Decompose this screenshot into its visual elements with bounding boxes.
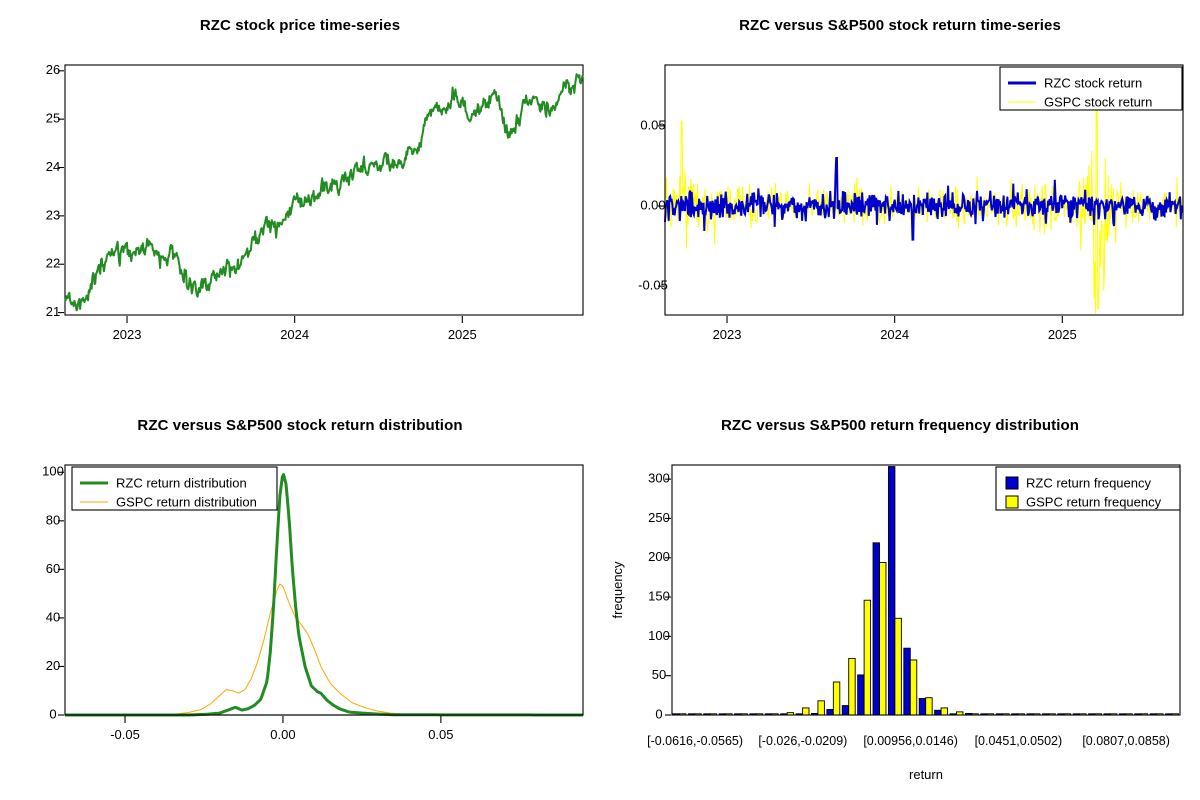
y-tick-label: 0 (655, 706, 662, 721)
figure-root: RZC stock price time-series 212223242526… (0, 0, 1200, 800)
bar-gspc (880, 562, 886, 715)
legend: RZC return frequencyGSPC return frequenc… (996, 467, 1180, 510)
bar-rzc (873, 543, 879, 715)
plot-rzc-price: 212223242526202320242025 (0, 0, 600, 400)
bar-gspc (910, 660, 916, 715)
bar-rzc (935, 710, 941, 715)
y-tick-label: 0.00 (640, 197, 665, 212)
y-tick-label: 80 (46, 512, 60, 527)
plot-rzc-gspc-return: -0.050.000.05202320242025RZC stock retur… (600, 0, 1200, 400)
panel-rzc-gspc-return: RZC versus S&P500 stock return time-seri… (600, 0, 1200, 400)
y-tick-label: 23 (46, 207, 60, 222)
x-tick-label: [-0.0616,-0.0565) (647, 734, 743, 748)
x-tick-label: 2023 (713, 327, 742, 342)
y-tick-label: 0 (49, 706, 56, 721)
x-axis-label: return (909, 767, 943, 782)
legend-label: RZC return frequency (1026, 476, 1151, 491)
bar-rzc (858, 675, 864, 715)
legend-swatch (1006, 477, 1018, 489)
x-tick-label: 2024 (280, 327, 309, 342)
panel-rzc-price: RZC stock price time-series 212223242526… (0, 0, 600, 400)
bar-gspc (926, 698, 932, 715)
legend: RZC return distributionGSPC return distr… (72, 467, 277, 510)
y-tick-label: 20 (46, 658, 60, 673)
panel-rzc-gspc-density: RZC versus S&P500 stock return distribut… (0, 400, 600, 800)
plot-rzc-gspc-density: 020406080100-0.050.000.05RZC return dist… (0, 400, 600, 800)
legend: RZC stock returnGSPC stock return (1000, 67, 1182, 110)
y-tick-label: 0.05 (640, 117, 665, 132)
bar-rzc (827, 710, 833, 716)
y-tick-label: 200 (648, 549, 670, 564)
bar-rzc (842, 706, 848, 715)
legend-label: GSPC stock return (1044, 95, 1152, 110)
y-tick-label: 250 (648, 510, 670, 525)
bar-gspc (833, 682, 839, 715)
plot-rzc-gspc-frequency: 050100150200250300frequency[-0.0616,-0.0… (600, 400, 1200, 800)
y-tick-label: 22 (46, 256, 60, 271)
bar-rzc (904, 648, 910, 715)
y-tick-label: 300 (648, 471, 670, 486)
y-tick-label: 40 (46, 609, 60, 624)
x-tick-label: [0.0451,0.0502) (975, 734, 1063, 748)
bar-gspc (849, 658, 855, 715)
series-rzc-density-line (65, 475, 583, 715)
bar-gspc (818, 701, 824, 715)
x-tick-label: 0.05 (428, 727, 453, 742)
y-tick-label: -0.05 (638, 278, 668, 293)
bar-gspc (895, 618, 901, 715)
y-tick-label: 60 (46, 561, 60, 576)
y-tick-label: 25 (46, 111, 60, 126)
x-tick-label: 2023 (113, 327, 142, 342)
y-tick-label: 150 (648, 589, 670, 604)
bar-gspc (864, 600, 870, 715)
bar-gspc (941, 708, 947, 715)
y-axis-label: frequency (610, 561, 625, 619)
legend-label: GSPC return frequency (1026, 495, 1162, 510)
bar-gspc (803, 708, 809, 715)
legend-label: RZC return distribution (116, 476, 247, 491)
panel-rzc-gspc-frequency: RZC versus S&P500 return frequency distr… (600, 400, 1200, 800)
x-tick-label: [-0.026,-0.0209) (758, 734, 847, 748)
y-tick-label: 100 (42, 464, 64, 479)
series-rzc-price-line (65, 74, 583, 310)
legend-label: GSPC return distribution (116, 495, 257, 510)
x-tick-label: 2024 (880, 327, 909, 342)
x-tick-label: -0.05 (110, 727, 140, 742)
bar-rzc (888, 467, 894, 715)
y-tick-label: 24 (46, 159, 60, 174)
x-tick-label: 2025 (1048, 327, 1077, 342)
x-tick-label: 2025 (448, 327, 477, 342)
y-tick-label: 26 (46, 62, 60, 77)
y-tick-label: 21 (46, 304, 60, 319)
x-tick-label: [0.00956,0.0146) (863, 734, 958, 748)
x-tick-label: [0.0807,0.0858) (1082, 734, 1170, 748)
y-tick-label: 50 (652, 667, 666, 682)
y-tick-label: 100 (648, 628, 670, 643)
bar-rzc (919, 698, 925, 715)
legend-label: RZC stock return (1044, 76, 1142, 91)
x-tick-label: 0.00 (270, 727, 295, 742)
legend-swatch (1006, 496, 1018, 508)
